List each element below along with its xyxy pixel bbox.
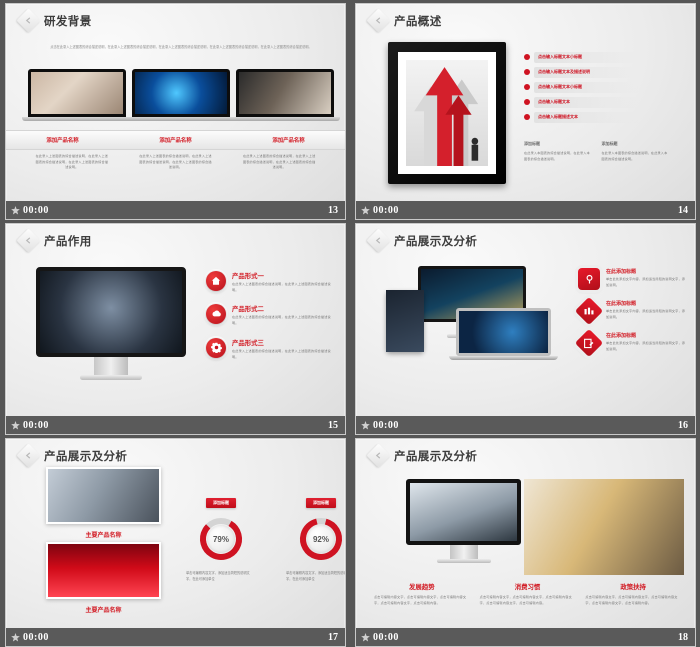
photo-tech-hand [135,72,227,114]
product-desc-3: 在此录入上述图表的综合描述说明，在此录入上述图表的综合描述说明，在此录入上述图表… [227,154,331,171]
photo-signing-document [31,72,123,114]
summary-column-1: 添加标题 在此录入本图表的综合描述说明，在此录入本图表的综合描述说明。 [524,141,592,162]
monitor-display [36,267,186,380]
analysis-heading-2: 消费习惯 [480,582,576,591]
slide-13-canvas: 研发背景 点击在此录入上述图表的综合描述说明，在此录入上述图表的综合描述说明，在… [6,4,345,201]
bullet-item[interactable]: 点击输入标题文本及描述说明 [524,66,639,78]
badge-item-1[interactable]: 在此添加标题 单击此处添加文字内容，添加适当简短的说明文字，添加说明。 [578,268,688,290]
summary-heading-2: 添加标题 [602,141,670,147]
edit-document-icon [575,329,603,357]
bullet-dot-icon [524,114,530,120]
gear-icon [206,338,226,358]
slide-17-title-row: 产品展示及分析 [20,447,127,464]
timer-label: 00:00 [373,420,399,431]
badge-heading-1: 在此添加标题 [606,268,688,275]
badge-list: 在此添加标题 单击此处添加文字内容，添加适当简短的说明文字，添加说明。 在此添加… [578,268,688,364]
summary-heading-1: 添加标题 [524,141,592,147]
page-number: 17 [328,632,338,643]
slide-cell-13[interactable]: 研发背景 点击在此录入上述图表的综合描述说明，在此录入上述图表的综合描述说明，在… [0,0,350,220]
bullet-label: 点击输入标题文本 [534,97,639,108]
laptop-image-row [28,69,334,121]
slide-18-canvas: 产品展示及分析 发展趋势 点击可编辑内容文字，点击可编辑内容文字，点击可编辑内容… [356,439,695,628]
feature-list: 产品形式一 在此录入上述图表的综合描述说明，在此录入上述图表的综合描述说明。 产… [206,271,334,371]
donut-value-1: 79% [207,525,235,553]
analysis-column-3: 政策扶持 点击可编辑内容文字，点击可编辑内容文字，点击可编辑内容文字，点击可编辑… [585,582,681,606]
product-desc-1: 在此录入上述图表的综合描述说明，在此录入上述图表的综合描述说明，在此录入上述图表… [20,154,124,171]
photo-meeting-table [239,72,331,114]
summary-column-2: 添加标题 在此录入本图表的综合描述说明，在此录入本图表的综合描述说明。 [602,141,670,162]
donut-value-2: 92% [307,525,335,553]
photo-gears-hand [389,294,421,348]
bullet-label: 点击输入标题文本小标题 [534,52,639,63]
timer-label: 00:00 [373,205,399,216]
analysis-desc-2: 点击可编辑内容文字，点击可编辑内容文字，点击可编辑内容文字，点击可编辑内容文字，… [480,595,576,606]
slide-15-title-row: 产品作用 [20,232,92,249]
slide-cell-15[interactable]: 产品作用 产品形式一 在此录入上述图表的综合描述说明，在此录入上述图表的综合描述… [0,220,350,435]
chevron-left-icon [16,8,40,32]
feature-desc-2: 在此录入上述图表的综合描述说明，在此录入上述图表的综合描述说明。 [232,315,334,326]
slide-14[interactable]: 产品概述 [355,3,696,220]
slide-15-canvas: 产品作用 产品形式一 在此录入上述图表的综合描述说明，在此录入上述图表的综合描述… [6,224,345,416]
imac-mockup [406,479,521,563]
page-title: 产品展示及分析 [44,448,127,464]
chart-bars-icon [575,297,603,325]
tablet-mockup [386,290,424,352]
slide-16-canvas: 产品展示及分析 [356,224,695,416]
bullet-list: 点击输入标题文本小标题 点击输入标题文本及描述说明 点击输入标题文本小标题 点击… [524,51,639,126]
bullet-label: 点击输入标题文本及描述说明 [534,67,639,78]
bullet-dot-icon [524,99,530,105]
slide-cell-17[interactable]: 产品展示及分析 主要产品名称 主要产品名称 添加标题 [0,435,350,647]
slide-13-title-row: 研发背景 [20,12,92,29]
bullet-dot-icon [524,69,530,75]
laptop-3 [236,69,334,121]
framed-poster [388,42,506,184]
badge-heading-3: 在此添加标题 [606,332,688,339]
star-flower-icon [11,421,20,430]
home-icon [206,271,226,291]
intro-paragraph: 点击在此录入上述图表的综合描述说明，在此录入上述图表的综合描述说明，在此录入上述… [46,44,316,50]
page-number: 16 [678,420,688,431]
page-title: 研发背景 [44,13,92,29]
product-name-band: 添加产品名称 添加产品名称 添加产品名称 [6,130,345,150]
product-caption-row: 在此录入上述图表的综合描述说明，在此录入上述图表的综合描述说明，在此录入上述图表… [20,154,331,171]
chevron-left-icon [366,443,390,467]
page-number: 15 [328,420,338,431]
bullet-item[interactable]: 点击输入标题文本小标题 [524,81,639,93]
donut-chart-2: 添加标题 92% 单击可编辑内容文字，添加适当简短的说明文字，在此可添加单位 [286,491,345,582]
bullet-item[interactable]: 点击输入标题文本小标题 [524,51,639,63]
page-title: 产品概述 [394,13,442,29]
product-name-1: 添加产品名称 [6,131,119,149]
device-mockup-group [386,266,551,371]
page-title: 产品展示及分析 [394,448,477,464]
slide-17[interactable]: 产品展示及分析 主要产品名称 主要产品名称 添加标题 [5,438,346,647]
slide-cell-18[interactable]: 产品展示及分析 发展趋势 点击可编辑内容文字，点击可编辑内容文字，点击可编辑内容… [350,435,700,647]
donut-tag-2: 添加标题 [306,498,336,508]
star-flower-icon [361,633,370,642]
slide-14-canvas: 产品概述 [356,4,695,201]
feature-heading-3: 产品形式三 [232,338,334,347]
bullet-item[interactable]: 点击输入标题文本 [524,96,639,108]
product-name-2: 添加产品名称 [119,131,232,149]
badge-heading-2: 在此添加标题 [606,300,688,307]
slide-cell-16[interactable]: 产品展示及分析 [350,220,700,435]
page-number: 13 [328,205,338,216]
cloud-icon [206,304,226,324]
badge-desc-1: 单击此处添加文字内容，添加适当简短的说明文字，添加说明。 [606,277,688,288]
badge-desc-2: 单击此处添加文字内容，添加适当简短的说明文字，添加说明。 [606,309,688,320]
laptop-2 [132,69,230,121]
bullet-label: 点击输入标题描述文本 [534,112,639,123]
badge-item-2[interactable]: 在此添加标题 单击此处添加文字内容，添加适当简短的说明文字，添加说明。 [578,300,688,322]
slide-16[interactable]: 产品展示及分析 [355,223,696,435]
analysis-column-1: 发展趋势 点击可编辑内容文字，点击可编辑内容文字，点击可编辑内容文字，点击可编辑… [374,582,470,606]
product-caption-2: 主要产品名称 [46,605,161,614]
analysis-heading-1: 发展趋势 [374,582,470,591]
donut-chart-group: 添加标题 79% 单击可编辑内容文字，添加适当简短的说明文字，在此可添加单位 添… [186,491,345,582]
bullet-item[interactable]: 点击输入标题描述文本 [524,111,639,123]
chevron-left-icon [16,228,40,252]
donut-ring-1: 79% [198,516,244,562]
page-title: 产品展示及分析 [394,233,477,249]
slide-14-footer: 00:00 14 [356,201,695,219]
analysis-desc-1: 点击可编辑内容文字，点击可编辑内容文字，点击可编辑内容文字，点击可编辑内容文字，… [374,595,470,606]
donut-tag-1: 添加标题 [206,498,236,508]
donut-desc-1: 单击可编辑内容文字，添加适当简短的说明文字，在此可添加单位 [186,570,252,582]
badge-item-3[interactable]: 在此添加标题 单击此处添加文字内容，添加适当简短的说明文字，添加说明。 [578,332,688,354]
slide-17-footer: 00:00 17 [6,628,345,646]
analysis-heading-3: 政策扶持 [585,582,681,591]
summary-desc-1: 在此录入本图表的综合描述说明，在此录入本图表的综合描述说明。 [524,151,592,162]
product-caption-1: 主要产品名称 [46,530,161,539]
photo-conference-world-map [524,479,684,575]
page-number: 18 [678,632,688,643]
feature-desc-3: 在此录入上述图表的综合描述说明，在此录入上述图表的综合描述说明。 [232,349,334,360]
feature-item-3[interactable]: 产品形式三 在此录入上述图表的综合描述说明，在此录入上述图表的综合描述说明。 [206,338,334,360]
analysis-desc-3: 点击可编辑内容文字，点击可编辑内容文字，点击可编辑内容文字，点击可编辑内容文字，… [585,595,681,606]
product-desc-2: 在此录入上述图表的综合描述说明，在此录入上述图表的综合描述说明，在此录入上述图表… [124,154,228,171]
summary-desc-2: 在此录入本图表的综合描述说明，在此录入本图表的综合描述说明。 [602,151,670,162]
star-flower-icon [11,633,20,642]
feature-heading-2: 产品形式二 [232,304,334,313]
product-name-3: 添加产品名称 [232,131,345,149]
slide-15[interactable]: 产品作用 产品形式一 在此录入上述图表的综合描述说明，在此录入上述图表的综合描述… [5,223,346,435]
slide-16-footer: 00:00 16 [356,416,695,434]
timer-label: 00:00 [23,205,49,216]
photo-businessman-tablet [40,271,182,353]
bullet-dot-icon [524,84,530,90]
bullet-dot-icon [524,54,530,60]
star-flower-icon [361,421,370,430]
donut-chart-1: 添加标题 79% 单击可编辑内容文字，添加适当简短的说明文字，在此可添加单位 [186,491,256,582]
page-title: 产品作用 [44,233,92,249]
slide-16-title-row: 产品展示及分析 [370,232,477,249]
slide-thumbnail-grid: 研发背景 点击在此录入上述图表的综合描述说明，在此录入上述图表的综合描述说明，在… [0,0,700,647]
slide-18[interactable]: 产品展示及分析 发展趋势 点击可编辑内容文字，点击可编辑内容文字，点击可编辑内容… [355,438,696,647]
summary-columns: 添加标题 在此录入本图表的综合描述说明，在此录入本图表的综合描述说明。 添加标题… [524,141,669,162]
photo-cube-interface [459,311,548,353]
timer-label: 00:00 [23,632,49,643]
page-number: 14 [678,205,688,216]
feature-desc-1: 在此录入上述图表的综合描述说明，在此录入上述图表的综合描述说明。 [232,282,334,293]
photo-red-city [46,542,161,599]
star-flower-icon [361,206,370,215]
photo-hand-icons [46,467,161,524]
laptop-mockup [456,308,551,360]
chevron-left-icon [366,228,390,252]
slide-17-canvas: 产品展示及分析 主要产品名称 主要产品名称 添加标题 [6,439,345,628]
analysis-columns: 发展趋势 点击可编辑内容文字，点击可编辑内容文字，点击可编辑内容文字，点击可编辑… [374,582,681,606]
feature-heading-1: 产品形式一 [232,271,334,280]
timer-label: 00:00 [373,632,399,643]
analysis-column-2: 消费习惯 点击可编辑内容文字，点击可编辑内容文字，点击可编辑内容文字，点击可编辑… [480,582,576,606]
donut-ring-2: 92% [298,516,344,562]
feature-item-2[interactable]: 产品形式二 在此录入上述图表的综合描述说明，在此录入上述图表的综合描述说明。 [206,304,334,326]
chevron-left-icon [366,8,390,32]
timer-label: 00:00 [23,420,49,431]
slide-13-footer: 00:00 13 [6,201,345,219]
magnifier-icon [578,268,600,290]
feature-item-1[interactable]: 产品形式一 在此录入上述图表的综合描述说明，在此录入上述图表的综合描述说明。 [206,271,334,293]
slide-13[interactable]: 研发背景 点击在此录入上述图表的综合描述说明，在此录入上述图表的综合描述说明，在… [5,3,346,220]
laptop-1 [28,69,126,121]
slide-cell-14[interactable]: 产品概述 [350,0,700,220]
photo-red-arrows-growth [406,60,488,166]
chevron-left-icon [16,443,40,467]
photo-office-meeting [410,483,517,541]
slide-18-title-row: 产品展示及分析 [370,447,477,464]
slide-14-title-row: 产品概述 [370,12,442,29]
donut-desc-2: 单击可编辑内容文字，添加适当简短的说明文字，在此可添加单位 [286,570,345,582]
star-flower-icon [11,206,20,215]
slide-15-footer: 00:00 15 [6,416,345,434]
bullet-label: 点击输入标题文本小标题 [534,82,639,93]
badge-desc-3: 单击此处添加文字内容，添加适当简短的说明文字，添加说明。 [606,341,688,352]
slide-18-footer: 00:00 18 [356,628,695,646]
